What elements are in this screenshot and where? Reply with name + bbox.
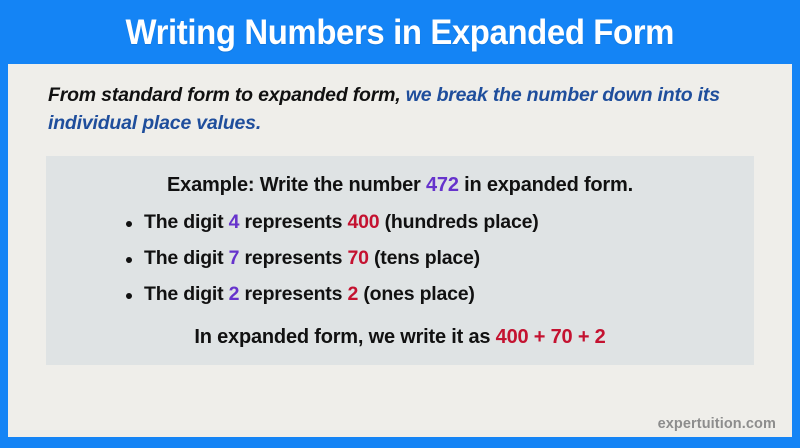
content-sheet-wrapper: From standard form to expanded form, we … [0,64,800,448]
bullet-middle: represents [239,283,347,305]
place-value-list: The digit 4 represents 400 (hundreds pla… [68,212,732,305]
list-item: The digit 2 represents 2 (ones place) [126,284,732,306]
bullet-suffix: (tens place) [369,247,480,269]
bullet-middle: represents [239,211,347,233]
list-item: The digit 7 represents 70 (tens place) [126,248,732,270]
conclusion-expression: 400 + 70 + 2 [496,326,606,348]
list-item: The digit 4 represents 400 (hundreds pla… [126,212,732,234]
subtitle: From standard form to expanded form, we … [48,82,748,137]
content-sheet: From standard form to expanded form, we … [8,64,792,437]
example-panel: Example: Write the number 472 in expande… [46,156,754,364]
bullet-value: 70 [347,247,368,269]
infographic-poster: Writing Numbers in Expanded Form From st… [0,0,800,448]
example-prompt-number: 472 [426,174,459,196]
page-title: Writing Numbers in Expanded Form [126,15,675,50]
bullet-prefix: The digit [144,211,229,233]
bullet-prefix: The digit [144,283,229,305]
bullet-suffix: (hundreds place) [379,211,538,233]
subtitle-lead: From standard form to expanded form, [48,84,401,106]
bullet-value: 2 [347,283,358,305]
conclusion-prefix: In expanded form, we write it as [194,326,495,348]
example-prompt-suffix: in expanded form. [459,174,633,196]
header-banner: Writing Numbers in Expanded Form [0,0,800,64]
watermark: expertuition.com [658,416,776,432]
bullet-digit: 4 [229,211,240,233]
bullet-value: 400 [347,211,379,233]
bullet-digit: 7 [229,247,240,269]
bullet-prefix: The digit [144,247,229,269]
expanded-form-conclusion: In expanded form, we write it as 400 + 7… [68,325,732,349]
bullet-digit: 2 [229,283,240,305]
example-prompt: Example: Write the number 472 in expande… [68,173,732,197]
bullet-suffix: (ones place) [358,283,475,305]
bullet-middle: represents [239,247,347,269]
example-prompt-prefix: Example: Write the number [167,174,426,196]
